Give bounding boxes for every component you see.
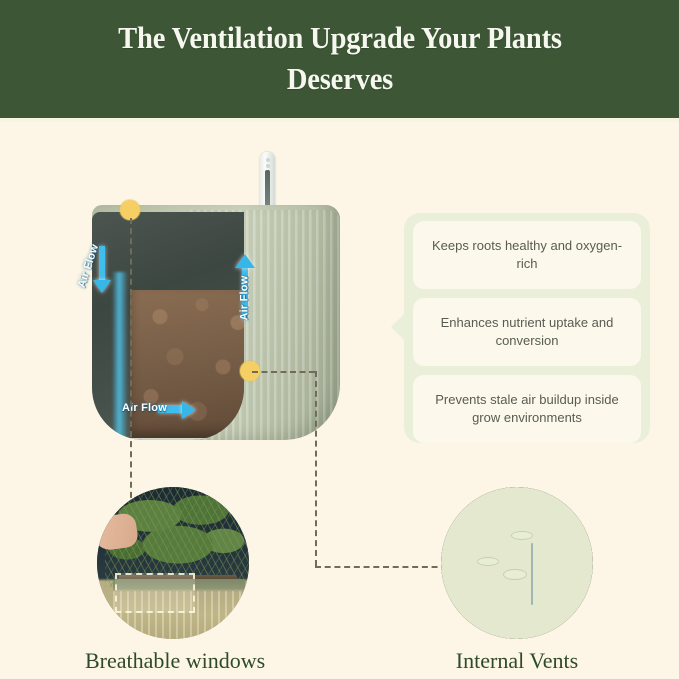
vent-slot-icon (503, 569, 527, 580)
connector-line-vents-segment-3 (315, 566, 457, 568)
vent-slot-icon (511, 531, 533, 540)
vent-circle-background (441, 487, 593, 639)
airflow-arrow-down-icon (93, 280, 111, 293)
benefit-text: Keeps roots healthy and oxygen-rich (425, 237, 629, 274)
feature-breathable-windows: Breathable windows (97, 487, 249, 674)
page-title: The Ventilation Upgrade Your Plants Dese… (73, 18, 607, 100)
gauge-mark-1 (266, 158, 270, 162)
header-banner: The Ventilation Upgrade Your Plants Dese… (0, 0, 679, 118)
vent-divider-line (531, 543, 533, 605)
connector-line-vents-segment-2 (315, 371, 317, 566)
benefit-text: Enhances nutrient uptake and conversion (425, 314, 629, 351)
airflow-channel-left (112, 272, 128, 440)
airflow-label-bottom: Air Flow (122, 402, 167, 414)
infographic-page: The Ventilation Upgrade Your Plants Dese… (0, 0, 679, 679)
vent-slot-icon (477, 557, 499, 566)
benefit-card: Prevents stale air buildup inside grow e… (413, 375, 641, 443)
feature-internal-vents: Internal Vents (441, 487, 593, 674)
gauge-mark-2 (266, 164, 270, 168)
connector-line-vents-segment-1 (252, 371, 315, 373)
connector-line-breathable-windows (130, 218, 132, 508)
soil-separator-shelf (128, 438, 244, 440)
internal-vents-diagram (441, 487, 593, 639)
airflow-arrow-up-icon (235, 254, 255, 268)
benefit-text: Prevents stale air buildup inside grow e… (425, 391, 629, 428)
callout-dot-breathable-windows[interactable] (120, 200, 140, 220)
breathable-windows-photo (97, 487, 249, 639)
airflow-label-right: Air Flow (239, 276, 251, 321)
benefit-card: Keeps roots healthy and oxygen-rich (413, 221, 641, 289)
feature-caption: Internal Vents (441, 648, 593, 674)
airflow-arrow-stem-left (99, 246, 105, 284)
breathable-window-highlight-box (115, 573, 195, 613)
feature-caption: Breathable windows (85, 648, 249, 674)
benefits-panel: Keeps roots healthy and oxygen-rich Enha… (404, 213, 650, 443)
planter-illustration: Air Flow Air Flow Air Flow (70, 150, 355, 450)
header-divider (0, 118, 679, 122)
benefit-card: Enhances nutrient uptake and conversion (413, 298, 641, 366)
airflow-arrow-right-icon (182, 401, 196, 419)
